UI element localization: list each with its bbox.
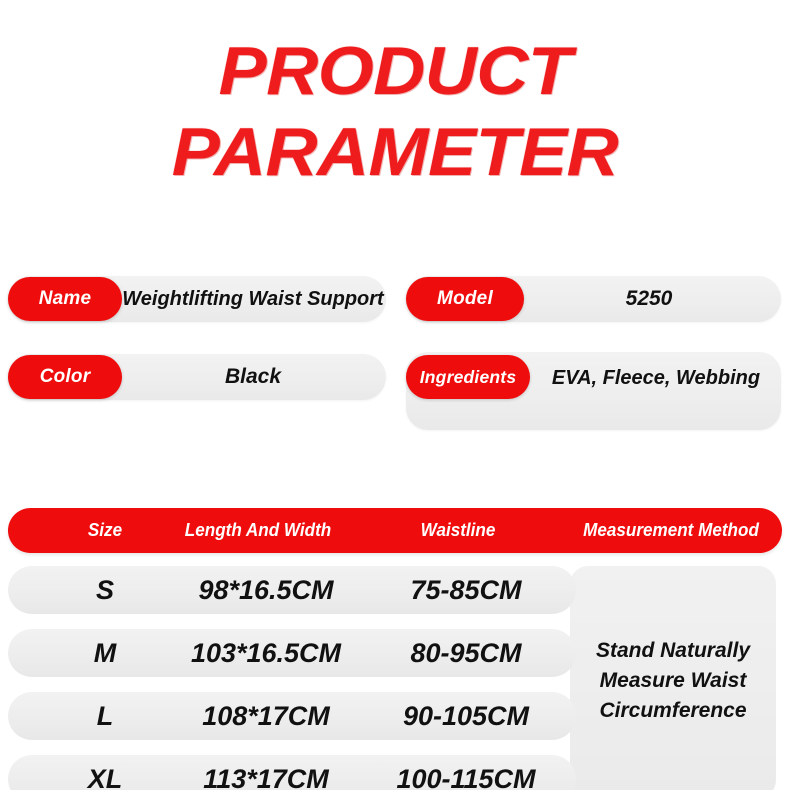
parameter-row-color: Color Black	[0, 354, 390, 402]
measurement-method-text: Stand Naturally Measure Waist Circumfere…	[570, 636, 776, 725]
product-parameter-infographic: PRODUCT PARAMETER Name Weightlifting Wai…	[0, 0, 790, 790]
parameter-label-pill-ingredients: Ingredients	[406, 355, 530, 399]
cell-waistline: 75-85CM	[378, 566, 554, 614]
cell-length-and-width: 108*17CM	[168, 692, 364, 740]
size-table: Size Length And Width Waistline Measurem…	[0, 508, 790, 790]
cell-size: XL	[50, 755, 160, 790]
parameter-label-pill-name: Name	[8, 277, 122, 321]
parameter-value-model: 5250	[524, 276, 774, 322]
page-title-line-2: PARAMETER	[0, 119, 790, 186]
parameter-label-pill-model: Model	[406, 277, 524, 321]
table-row: M 103*16.5CM 80-95CM	[8, 629, 576, 677]
column-header-waistline: Waistline	[382, 508, 534, 553]
parameter-label-color: Color	[40, 366, 91, 388]
cell-length-and-width: 103*16.5CM	[168, 629, 364, 677]
cell-length-and-width: 113*17CM	[168, 755, 364, 790]
measurement-method-line-1: Stand Naturally	[570, 636, 776, 666]
parameter-label-name: Name	[39, 288, 92, 310]
parameter-label-ingredients: Ingredients	[420, 367, 517, 388]
cell-size: L	[50, 692, 160, 740]
page-title: PRODUCT PARAMETER	[0, 38, 790, 185]
parameter-value-color: Black	[124, 354, 382, 400]
cell-waistline: 80-95CM	[378, 629, 554, 677]
cell-size: M	[50, 629, 160, 677]
column-header-measurement-method: Measurement Method	[562, 508, 781, 553]
parameter-row-name: Name Weightlifting Waist Support	[0, 276, 390, 324]
column-header-length-and-width: Length And Width	[173, 508, 344, 553]
parameter-row-model: Model 5250	[398, 276, 790, 324]
cell-length-and-width: 98*16.5CM	[168, 566, 364, 614]
measurement-method-line-3: Circumference	[570, 696, 776, 726]
table-row: L 108*17CM 90-105CM	[8, 692, 576, 740]
parameter-value-name: Weightlifting Waist Support	[124, 276, 382, 322]
cell-waistline: 100-115CM	[378, 755, 554, 790]
parameter-label-model: Model	[437, 288, 493, 310]
measurement-method-line-2: Measure Waist	[570, 666, 776, 696]
parameter-list: Name Weightlifting Waist Support Model 5…	[0, 270, 790, 445]
cell-size: S	[50, 566, 160, 614]
parameter-value-ingredients: EVA, Fleece, Webbing	[536, 355, 776, 401]
parameter-label-pill-color: Color	[8, 355, 122, 399]
table-row: S 98*16.5CM 75-85CM	[8, 566, 576, 614]
table-row: XL 113*17CM 100-115CM	[8, 755, 576, 790]
parameter-row-ingredients: Ingredients EVA, Fleece, Webbing	[398, 352, 790, 400]
column-header-size: Size	[53, 508, 158, 553]
cell-waistline: 90-105CM	[378, 692, 554, 740]
page-title-line-1: PRODUCT	[0, 38, 790, 105]
